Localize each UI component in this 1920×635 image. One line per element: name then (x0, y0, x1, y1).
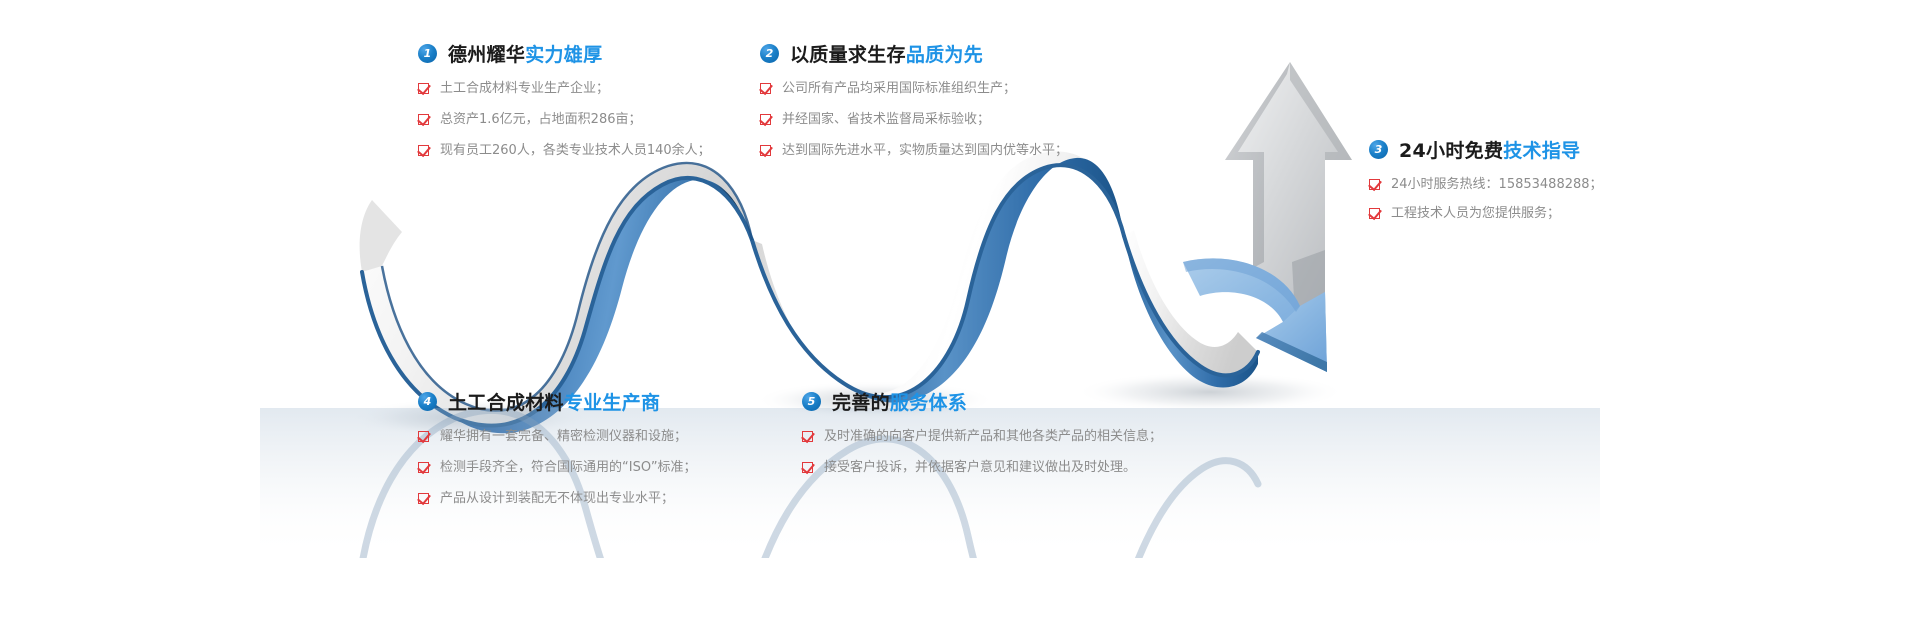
bullet-list-3: 24小时服务热线：15853488288； 工程技术人员为您提供服务； (1369, 176, 1603, 224)
feature-heading-3: 3 24小时免费技术指导 (1369, 136, 1603, 163)
list-item-text: 产品从设计到装配无不体现出专业水平； (440, 490, 674, 509)
list-item: 接受客户投诉，并依据客户意见和建议做出及时处理。 (802, 459, 1162, 478)
badge-number-2: 2 (760, 44, 779, 63)
bullet-list-1: 土工合成材料专业生产企业； 总资产1.6亿元，占地面积286亩； 现有员工260… (418, 80, 711, 161)
check-icon (760, 145, 771, 156)
heading-primary-5: 完善的 (832, 392, 890, 414)
heading-accent-4: 专业生产商 (564, 392, 661, 414)
feature-block-2: 2 以质量求生存品质为先 公司所有产品均采用国际标准组织生产； 并经国家、省技术… (760, 40, 1068, 161)
feature-block-3: 3 24小时免费技术指导 24小时服务热线：15853488288； 工程技术人… (1369, 136, 1603, 234)
list-item: 及时准确的向客户提供新产品和其他各类产品的相关信息； (802, 428, 1162, 447)
feature-heading-4: 4 土工合成材料专业生产商 (418, 388, 697, 415)
bullet-list-4: 耀华拥有一套完备、精密检测仪器和设施； 检测手段齐全，符合国际通用的“ISO”标… (418, 428, 697, 509)
feature-heading-1: 1 德州耀华实力雄厚 (418, 40, 711, 67)
list-item-text: 工程技术人员为您提供服务； (1391, 205, 1560, 224)
list-item-text: 接受客户投诉，并依据客户意见和建议做出及时处理。 (824, 459, 1136, 478)
list-item: 达到国际先进水平，实物质量达到国内优等水平； (760, 142, 1068, 161)
list-item-text: 土工合成材料专业生产企业； (440, 80, 609, 99)
check-icon (1369, 208, 1380, 219)
bullet-list-2: 公司所有产品均采用国际标准组织生产； 并经国家、省技术监督局采标验收； 达到国际… (760, 80, 1068, 161)
list-item-text: 总资产1.6亿元，占地面积286亩； (440, 111, 642, 130)
heading-accent-5: 服务体系 (890, 392, 967, 414)
feature-block-1: 1 德州耀华实力雄厚 土工合成材料专业生产企业； 总资产1.6亿元，占地面积28… (418, 40, 711, 161)
check-icon (760, 83, 771, 94)
heading-primary-3: 24小时免费 (1399, 140, 1503, 162)
list-item-text: 达到国际先进水平，实物质量达到国内优等水平； (782, 142, 1068, 161)
feature-heading-2: 2 以质量求生存品质为先 (760, 40, 1068, 67)
check-icon (1369, 179, 1380, 190)
list-item: 产品从设计到装配无不体现出专业水平； (418, 490, 697, 509)
up-arrow (1225, 62, 1352, 316)
heading-primary-4: 土工合成材料 (448, 392, 564, 414)
check-icon (418, 431, 429, 442)
list-item-text: 耀华拥有一套完备、精密检测仪器和设施； (440, 428, 687, 447)
list-item: 24小时服务热线：15853488288； (1369, 176, 1603, 195)
check-icon (418, 83, 429, 94)
list-item-text: 公司所有产品均采用国际标准组织生产； (782, 80, 1016, 99)
badge-number-3: 3 (1369, 140, 1388, 159)
check-icon (760, 114, 771, 125)
check-icon (418, 462, 429, 473)
check-icon (418, 114, 429, 125)
check-icon (418, 493, 429, 504)
badge-number-5: 5 (802, 392, 821, 411)
list-item: 现有员工260人，各类专业技术人员140余人； (418, 142, 711, 161)
list-item-text: 并经国家、省技术监督局采标验收； (782, 111, 990, 130)
list-item: 工程技术人员为您提供服务； (1369, 205, 1603, 224)
list-item: 土工合成材料专业生产企业； (418, 80, 711, 99)
advantages-banner: 1 德州耀华实力雄厚 土工合成材料专业生产企业； 总资产1.6亿元，占地面积28… (0, 0, 1920, 635)
badge-number-1: 1 (418, 44, 437, 63)
check-icon (418, 145, 429, 156)
heading-accent-1: 实力雄厚 (525, 44, 602, 66)
check-icon (802, 431, 813, 442)
list-item: 并经国家、省技术监督局采标验收； (760, 111, 1068, 130)
down-arrow (1183, 258, 1327, 372)
feature-heading-5: 5 完善的服务体系 (802, 388, 1162, 415)
list-item: 耀华拥有一套完备、精密检测仪器和设施； (418, 428, 697, 447)
list-item-text: 及时准确的向客户提供新产品和其他各类产品的相关信息； (824, 428, 1162, 447)
heading-accent-3: 技术指导 (1503, 140, 1580, 162)
badge-number-4: 4 (418, 392, 437, 411)
feature-block-5: 5 完善的服务体系 及时准确的向客户提供新产品和其他各类产品的相关信息； 接受客… (802, 388, 1162, 490)
bullet-list-5: 及时准确的向客户提供新产品和其他各类产品的相关信息； 接受客户投诉，并依据客户意… (802, 428, 1162, 478)
list-item: 公司所有产品均采用国际标准组织生产； (760, 80, 1068, 99)
feature-block-4: 4 土工合成材料专业生产商 耀华拥有一套完备、精密检测仪器和设施； 检测手段齐全… (418, 388, 697, 509)
list-item-text: 现有员工260人，各类专业技术人员140余人； (440, 142, 711, 161)
list-item-text: 检测手段齐全，符合国际通用的“ISO”标准； (440, 459, 697, 478)
list-item: 检测手段齐全，符合国际通用的“ISO”标准； (418, 459, 697, 478)
list-item: 总资产1.6亿元，占地面积286亩； (418, 111, 711, 130)
heading-primary-1: 德州耀华 (448, 44, 525, 66)
list-item-text: 24小时服务热线：15853488288； (1391, 176, 1603, 195)
heading-primary-2: 以质量求生存 (790, 44, 906, 66)
check-icon (802, 462, 813, 473)
heading-accent-2: 品质为先 (906, 44, 983, 66)
